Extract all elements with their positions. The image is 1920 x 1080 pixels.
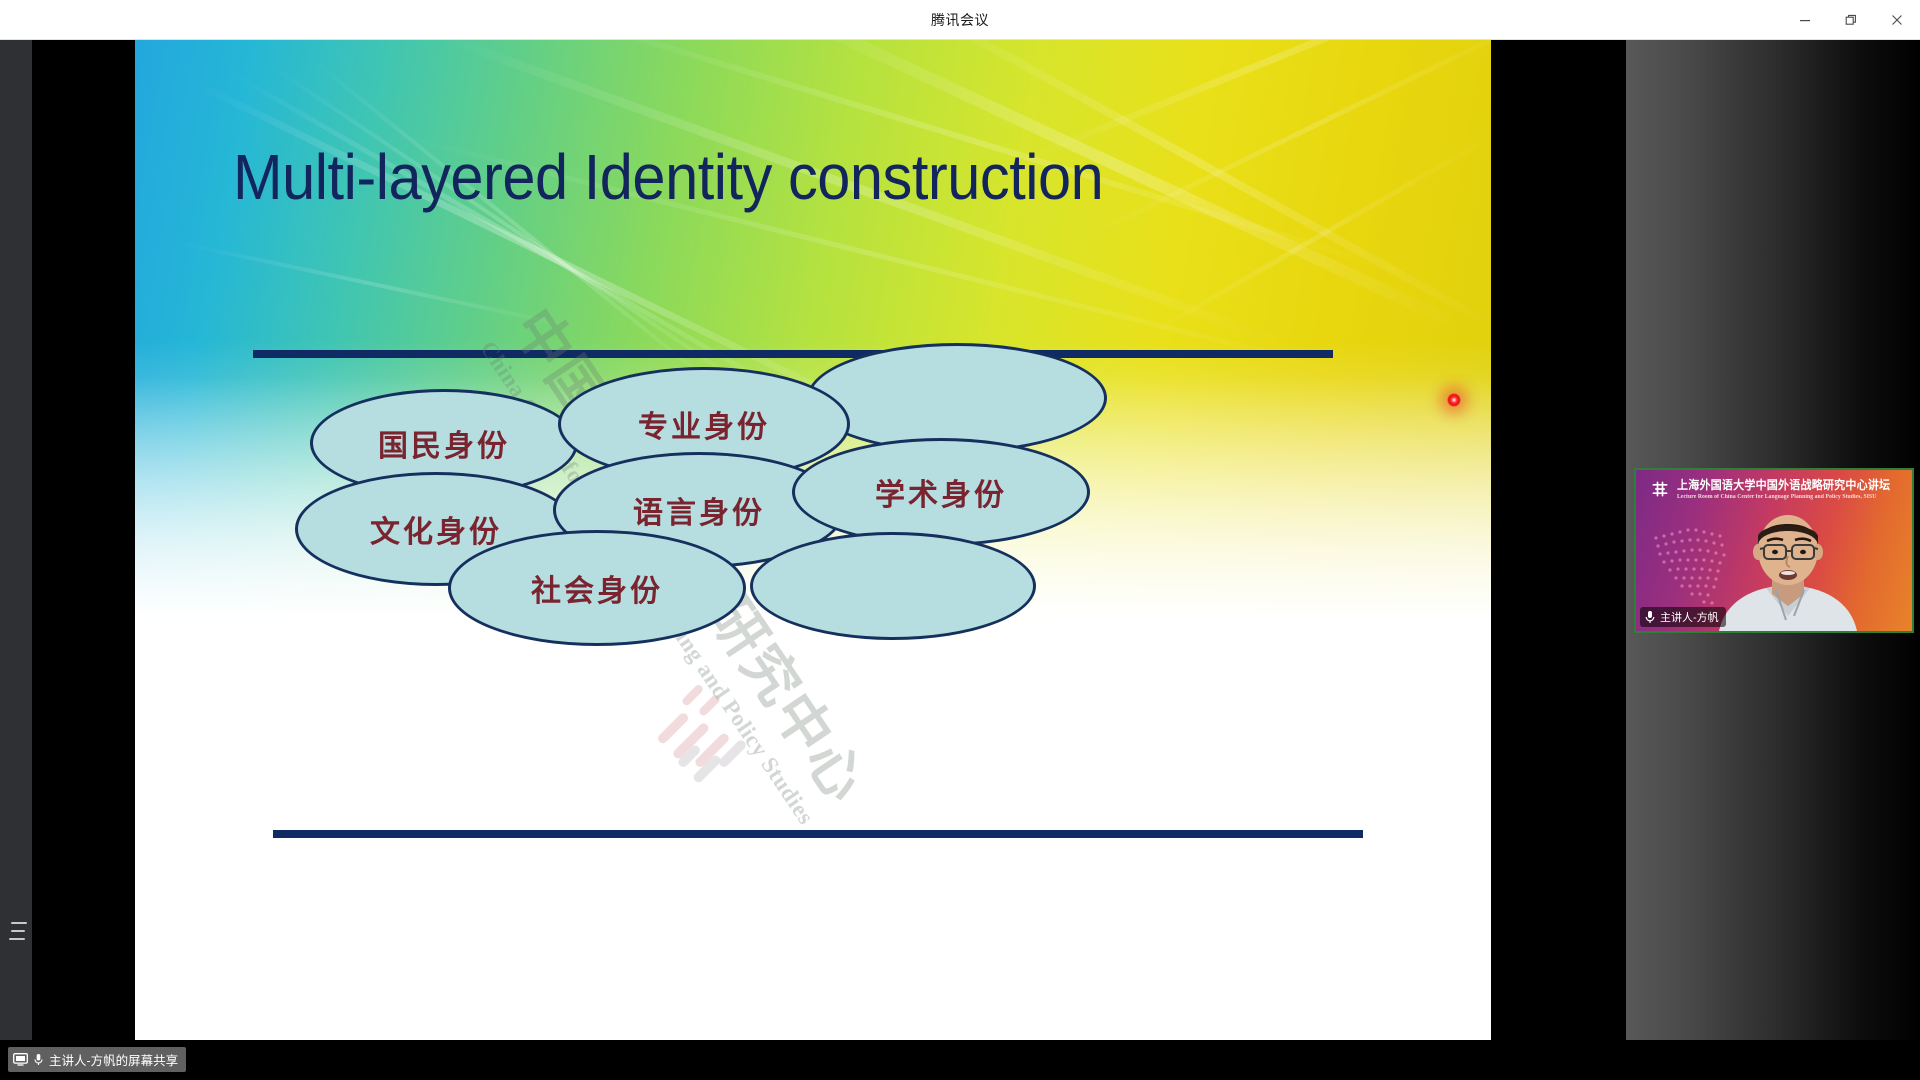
video-banner-cn: 上海外国语大学中国外语战略研究中心讲坛 xyxy=(1677,476,1890,493)
restore-button[interactable] xyxy=(1828,0,1874,40)
screen-share-icon xyxy=(13,1053,28,1066)
ellipse-empty-bottom-right xyxy=(750,532,1036,640)
participant-avatar xyxy=(1714,512,1862,633)
minimize-icon xyxy=(1799,14,1811,26)
ellipse-academic-identity: 学术身份 xyxy=(792,438,1090,546)
video-banner: 上海外国语大学中国外语战略研究中心讲坛 Lecture Room of Chin… xyxy=(1636,476,1912,500)
close-icon xyxy=(1891,14,1903,26)
participant-name-tag: 主讲人-方帆 xyxy=(1640,607,1726,627)
participant-name: 主讲人-方帆 xyxy=(1660,609,1719,625)
microphone-icon xyxy=(33,1053,44,1066)
participant-video-tile[interactable]: 上海外国语大学中国外语战略研究中心讲坛 Lecture Room of Chin… xyxy=(1634,468,1914,633)
left-toolbar-rail xyxy=(0,40,32,1040)
screen-share-status: 主讲人-方帆的屏幕共享 xyxy=(8,1047,186,1072)
ellipse-empty-top-right xyxy=(807,343,1107,453)
list-menu-icon[interactable] xyxy=(7,922,27,940)
video-banner-en: Lecture Room of China Center for Languag… xyxy=(1677,494,1895,500)
window-controls xyxy=(1782,0,1920,40)
identity-ellipse-cluster: 国民身份 专业身份 文化身份 语言身份 学术身份 社会身份 xyxy=(135,40,1491,1040)
minimize-button[interactable] xyxy=(1782,0,1828,40)
window-title: 腾讯会议 xyxy=(931,10,989,30)
restore-icon xyxy=(1845,14,1857,26)
meeting-window: 腾讯会议 xyxy=(0,0,1920,1080)
title-bar: 腾讯会议 xyxy=(0,0,1920,40)
screen-share-label: 主讲人-方帆的屏幕共享 xyxy=(49,1050,178,1069)
close-button[interactable] xyxy=(1874,0,1920,40)
laser-pointer-icon xyxy=(1447,393,1461,407)
shared-slide: Multi-layered Identity construction 中国外语… xyxy=(135,40,1491,1040)
ellipse-social-identity: 社会身份 xyxy=(448,530,746,646)
microphone-icon xyxy=(1644,610,1656,624)
institution-logo-icon xyxy=(1650,479,1670,499)
